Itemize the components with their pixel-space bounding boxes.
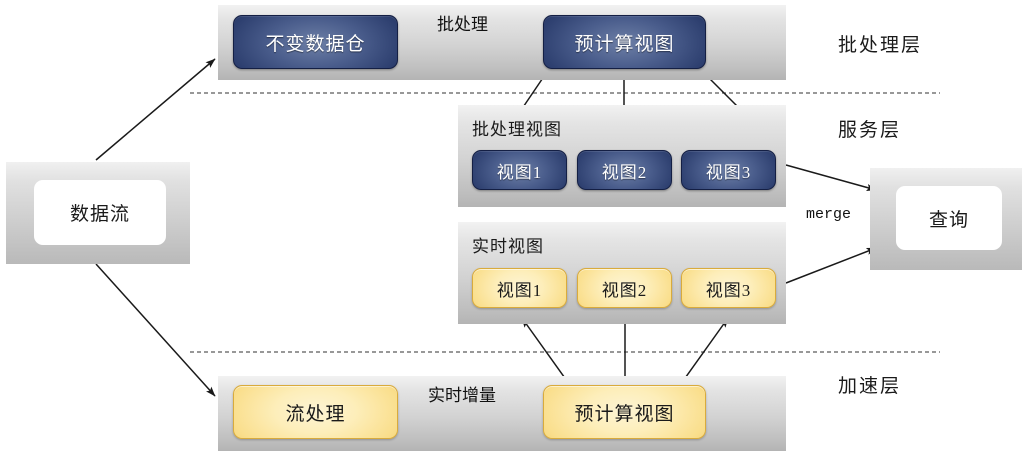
batch-views-group-title: 批处理视图 — [472, 115, 562, 140]
batch-precomputed-view-box[interactable]: 预计算视图 — [543, 15, 706, 69]
query-label: 查询 — [929, 205, 969, 232]
batch-view-1-label: 视图1 — [497, 158, 543, 183]
realtime-view-3-label: 视图3 — [706, 276, 752, 301]
batch-layer-label: 批处理层 — [838, 30, 922, 57]
stream-processor-box[interactable]: 流处理 — [233, 385, 398, 439]
realtime-increment-edge-label: 实时增量 — [428, 381, 496, 406]
batch-process-edge-label: 批处理 — [437, 10, 488, 35]
batch-view-2-label: 视图2 — [602, 158, 648, 183]
query-card[interactable]: 查询 — [870, 168, 1022, 270]
batch-view-1[interactable]: 视图1 — [472, 150, 567, 190]
realtime-view-2-label: 视图2 — [602, 276, 648, 301]
realtime-view-1[interactable]: 视图1 — [472, 268, 567, 308]
batch-view-3[interactable]: 视图3 — [681, 150, 776, 190]
speed-layer-label: 加速层 — [838, 371, 901, 398]
realtime-view-2[interactable]: 视图2 — [577, 268, 672, 308]
arrow-source-to-master — [96, 59, 215, 160]
realtime-view-3[interactable]: 视图3 — [681, 268, 776, 308]
data-stream-label-box: 数据流 — [34, 180, 166, 245]
arrow-source-to-stream — [96, 264, 215, 396]
data-stream-card[interactable]: 数据流 — [6, 162, 190, 264]
stream-processor-label: 流处理 — [285, 399, 345, 426]
batch-precomputed-view-label: 预计算视图 — [574, 29, 674, 56]
serving-layer-label: 服务层 — [838, 115, 901, 142]
batch-view-3-label: 视图3 — [706, 158, 752, 183]
speed-precomputed-view-box[interactable]: 预计算视图 — [543, 385, 706, 439]
lambda-architecture-diagram: 数据流 查询 不变数据仓 批处理 预计算视图 批处理层 批处理视图 视图1 视图… — [0, 0, 1028, 456]
master-dataset-box[interactable]: 不变数据仓 — [233, 15, 398, 69]
data-stream-label: 数据流 — [70, 199, 130, 226]
batch-view-2[interactable]: 视图2 — [577, 150, 672, 190]
query-label-box: 查询 — [896, 186, 1002, 250]
merge-label: merge — [806, 206, 851, 223]
arrow-batchviews-to-query — [786, 165, 876, 190]
master-dataset-label: 不变数据仓 — [265, 29, 365, 56]
speed-precomputed-view-label: 预计算视图 — [574, 399, 674, 426]
realtime-views-group-title: 实时视图 — [472, 232, 544, 257]
realtime-view-1-label: 视图1 — [497, 276, 543, 301]
arrow-realtimeviews-to-query — [786, 248, 876, 283]
